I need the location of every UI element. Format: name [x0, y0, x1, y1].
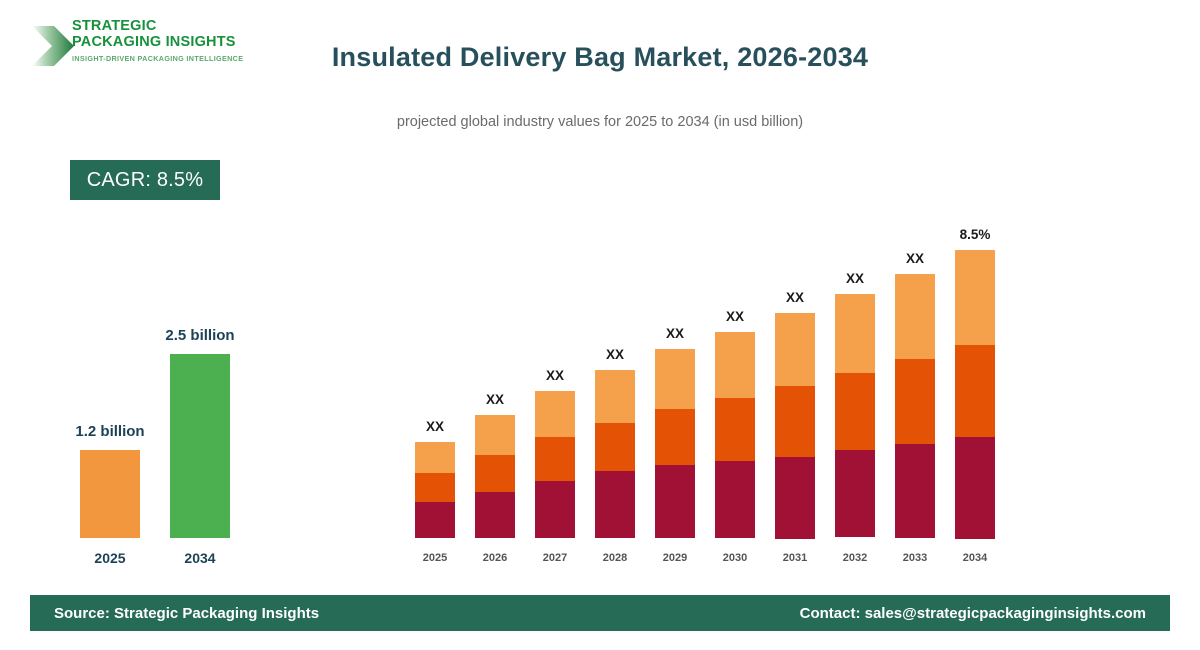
- stacked-bar-2030: [715, 332, 755, 538]
- bar-top-label: XX: [640, 326, 710, 341]
- bar-segment-segment-top: [595, 370, 635, 423]
- logo-wordmark: STRATEGIC PACKAGING INSIGHTS INSIGHT-DRI…: [72, 18, 272, 63]
- cagr-badge: CAGR: 8.5%: [70, 160, 220, 200]
- bar-segment-segment-bottom: [895, 444, 935, 538]
- bar-segment-segment-bottom: [955, 437, 995, 539]
- bar-segment-segment-middle: [655, 409, 695, 465]
- logo-line-2: PACKAGING INSIGHTS: [72, 34, 272, 50]
- x-axis-label: 2034: [170, 550, 230, 566]
- x-axis-label: 2025: [80, 550, 140, 566]
- bar-segment-segment-middle: [835, 373, 875, 450]
- bar-segment-segment-top: [415, 442, 455, 473]
- logo-line-1: STRATEGIC: [72, 18, 272, 34]
- footer-source: Source: Strategic Packaging Insights: [54, 605, 319, 622]
- stacked-bar-2033: [895, 274, 935, 538]
- bar-segment-segment-bottom: [595, 471, 635, 538]
- x-axis-label: 2032: [830, 552, 880, 564]
- bar-segment-segment-top: [955, 250, 995, 345]
- bar-2034: [170, 354, 230, 538]
- bar-segment-segment-bottom: [835, 450, 875, 537]
- bar-segment-segment-top: [535, 391, 575, 437]
- stacked-bar-2032: [835, 294, 875, 538]
- bar-segment-segment-middle: [595, 423, 635, 471]
- x-axis-label: 2025: [410, 552, 460, 564]
- page-title: Insulated Delivery Bag Market, 2026-2034: [260, 42, 940, 73]
- bar-segment-segment-bottom: [775, 457, 815, 539]
- stacked-bar-2028: [595, 370, 635, 538]
- bar-top-label: XX: [580, 347, 650, 362]
- bar-segment-segment-middle: [775, 386, 815, 457]
- bar-segment-segment-middle: [955, 345, 995, 437]
- stacked-bar-2034: [955, 250, 995, 538]
- bar-segment-segment-bottom: [415, 502, 455, 538]
- bar-segment-segment-top: [655, 349, 695, 409]
- stacked-bar-2031: [775, 313, 815, 538]
- x-axis-label: 2034: [950, 552, 1000, 564]
- bar-segment-segment-top: [475, 415, 515, 455]
- footer-bar: Source: Strategic Packaging Insights Con…: [30, 595, 1170, 631]
- infographic-page: STRATEGIC PACKAGING INSIGHTS INSIGHT-DRI…: [0, 0, 1200, 650]
- bar-segment-segment-top: [715, 332, 755, 398]
- x-axis-label: 2027: [530, 552, 580, 564]
- bar-value-label: 1.2 billion: [40, 423, 180, 440]
- bar-column: [170, 354, 230, 538]
- stacked-bar-2026: [475, 415, 515, 538]
- bar-segment-segment-top: [775, 313, 815, 386]
- chevron-right-icon: [30, 22, 76, 70]
- bar-2025: [80, 450, 140, 538]
- logo-tagline: INSIGHT-DRIVEN PACKAGING INTELLIGENCE: [72, 54, 272, 63]
- bar-segment-segment-bottom: [535, 481, 575, 538]
- bar-top-label: XX: [820, 271, 890, 286]
- page-subtitle: projected global industry values for 202…: [260, 114, 940, 130]
- bar-segment-segment-middle: [415, 473, 455, 502]
- bar-top-label: XX: [880, 251, 950, 266]
- bar-top-label: XX: [460, 392, 530, 407]
- bar-top-label: XX: [760, 290, 830, 305]
- bar-top-label: XX: [400, 419, 470, 434]
- bar-column: [80, 450, 140, 538]
- bar-value-label: 2.5 billion: [130, 327, 270, 344]
- bar-segment-segment-middle: [535, 437, 575, 481]
- stacked-bar-2025: [415, 442, 455, 538]
- stacked-bar-2029: [655, 349, 695, 538]
- footer-contact: Contact: sales@strategicpackaginginsight…: [800, 605, 1146, 622]
- bar-segment-segment-top: [895, 274, 935, 359]
- yearly-stacked-forecast-chart: XX2025XX2026XX2027XX2028XX2029XX2030XX20…: [400, 195, 1020, 570]
- bar-top-label: XX: [700, 309, 770, 324]
- bar-segment-segment-middle: [715, 398, 755, 461]
- company-logo: STRATEGIC PACKAGING INSIGHTS INSIGHT-DRI…: [30, 18, 270, 78]
- bar-segment-segment-middle: [475, 455, 515, 492]
- bar-top-label: 8.5%: [940, 227, 1010, 242]
- bar-top-label: XX: [520, 368, 590, 383]
- x-axis-label: 2030: [710, 552, 760, 564]
- bar-segment-segment-bottom: [475, 492, 515, 538]
- bar-segment-segment-bottom: [655, 465, 695, 538]
- stacked-bar-2027: [535, 391, 575, 538]
- x-axis-label: 2029: [650, 552, 700, 564]
- x-axis-label: 2031: [770, 552, 820, 564]
- bar-segment-segment-top: [835, 294, 875, 373]
- bar-segment-segment-middle: [895, 359, 935, 444]
- endpoint-comparison-chart: 1.2 billion20252.5 billion2034: [50, 300, 280, 570]
- x-axis-label: 2033: [890, 552, 940, 564]
- x-axis-label: 2028: [590, 552, 640, 564]
- x-axis-label: 2026: [470, 552, 520, 564]
- bar-segment-segment-bottom: [715, 461, 755, 538]
